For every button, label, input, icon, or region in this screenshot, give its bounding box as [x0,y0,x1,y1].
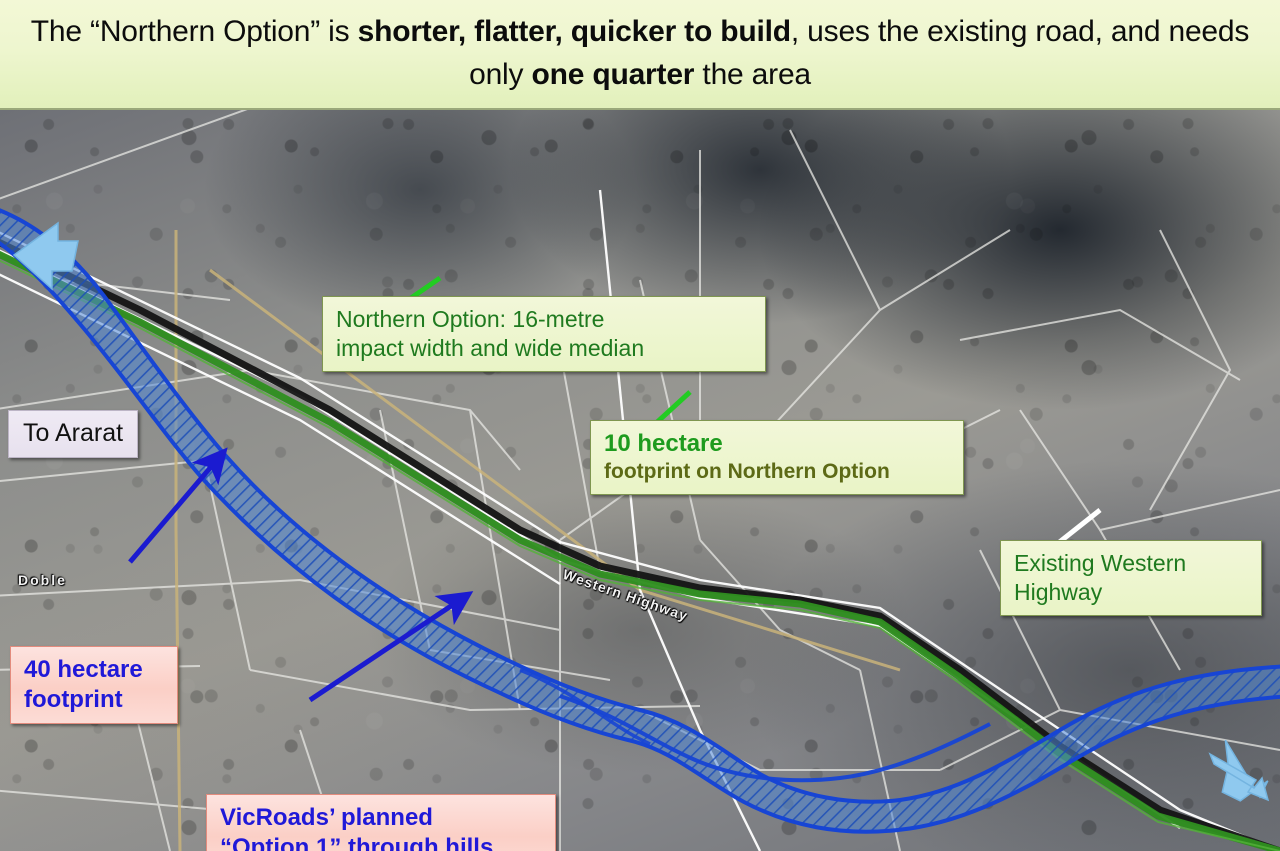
slide-root: The “Northern Option” is shorter, flatte… [0,0,1280,851]
callout-existing-western-highway[interactable]: Existing Western Highway [1000,540,1262,616]
callout-northern-option-line2: impact width and wide median [336,334,752,363]
to-buangor-arrow-icon [1204,740,1275,808]
aerial-map[interactable]: Doble Western Highway Northern Option: 1… [0,110,1280,851]
title-part-3: the area [694,58,811,91]
callout-ten-hectare-line1: 10 hectare [604,429,950,459]
callout-ten-hectare-footprint[interactable]: 10 hectare footprint on Northern Option [590,420,964,495]
title-banner: The “Northern Option” is shorter, flatte… [0,0,1280,110]
title-bold-2: one quarter [531,58,694,91]
callout-forty-hectare-footprint[interactable]: 40 hectare footprint [10,646,178,724]
callout-vicroads-line1: VicRoads’ planned [220,803,542,833]
page-title: The “Northern Option” is shorter, flatte… [0,11,1280,96]
callout-forty-hectare-line1: 40 hectare [24,655,164,685]
callout-existing-hwy-line1: Existing Western [1014,549,1248,578]
callout-forty-hectare-line2: footprint [24,685,164,715]
callout-northern-option-line1: Northern Option: 16-metre [336,305,752,334]
callout-vicroads-line2: “Option 1” through hills [220,833,542,851]
title-bold-1: shorter, flatter, quicker to build [358,15,791,48]
label-to-ararat[interactable]: To Ararat [8,410,138,458]
callout-northern-option[interactable]: Northern Option: 16-metre impact width a… [322,296,766,372]
callout-ten-hectare-line2: footprint on Northern Option [604,459,950,485]
title-part-1: The “Northern Option” is [31,15,358,48]
callout-existing-hwy-line2: Highway [1014,578,1248,607]
callout-vicroads-option1[interactable]: VicRoads’ planned “Option 1” through hil… [206,794,556,851]
